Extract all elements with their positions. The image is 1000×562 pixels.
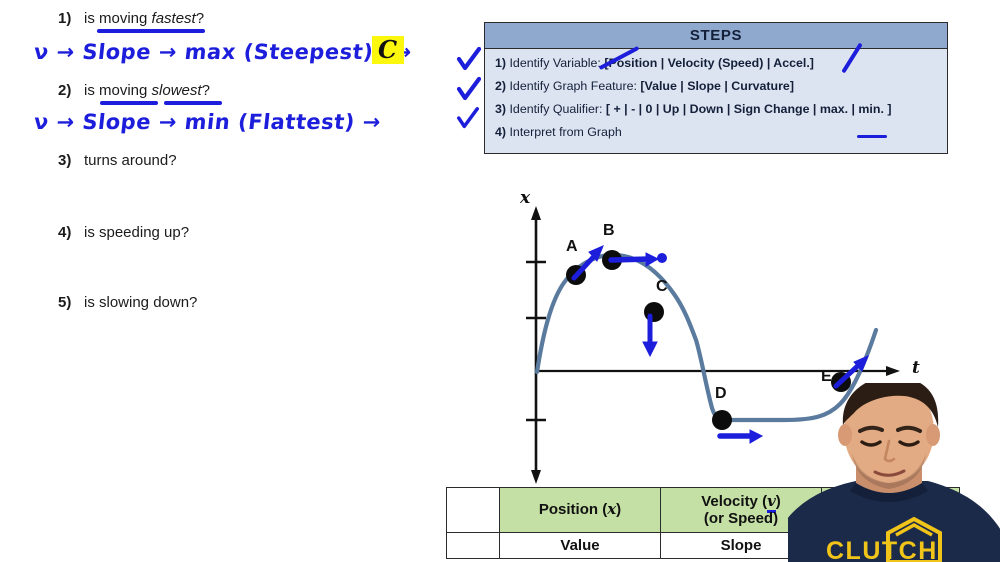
- step-label: Identify Graph Feature:: [509, 79, 636, 93]
- step-item-1: 1) Identify Variable: [Position | Veloci…: [495, 56, 937, 70]
- question-item-2: 2) is moving slowest?: [58, 82, 210, 99]
- question-number: 3): [58, 152, 84, 169]
- point-label-c: C: [656, 278, 668, 296]
- step-number: 1): [495, 56, 506, 70]
- question-text: is speeding up?: [84, 224, 189, 241]
- question-text: is moving fastest?: [84, 10, 204, 27]
- step-label: Identify Variable:: [509, 56, 600, 70]
- step-number: 3): [495, 102, 506, 116]
- slope-arrow-d: [720, 430, 762, 443]
- step-options: [Value | Slope | Curvature]: [640, 79, 794, 93]
- presenter-video: CLUTCH: [788, 383, 1000, 562]
- slope-arrow-c: [643, 316, 657, 356]
- table-cell-blank: [447, 488, 500, 533]
- point-label-b: B: [603, 222, 615, 240]
- question-number: 2): [58, 82, 84, 99]
- question-item-3: 3) turns around?: [58, 152, 177, 169]
- y-axis-label: x: [520, 188, 530, 208]
- graph-point-d: [712, 410, 732, 430]
- question-item-1: 1) is moving fastest?: [58, 10, 204, 27]
- underline-q2-moving: [100, 101, 158, 105]
- question-number: 5): [58, 294, 84, 311]
- underline-q1: [97, 29, 205, 33]
- underline-max: [857, 135, 887, 138]
- table-header-position: Position (x): [500, 488, 661, 533]
- checkmark-icon: [456, 106, 482, 134]
- slope-arrow-a: [574, 246, 603, 278]
- point-label-d: D: [715, 385, 727, 403]
- handwritten-note-1: ν → Slope → max (Steepest) ⟶: [33, 40, 413, 64]
- question-text: turns around?: [84, 152, 177, 169]
- step-item-3: 3) Identify Qualifier: [ + | - | 0 | Up …: [495, 102, 937, 116]
- question-item-4: 4) is speeding up?: [58, 224, 189, 241]
- step-options: [ + | - | 0 | Up | Down | Sign Change | …: [606, 102, 892, 116]
- step-label: Identify Qualifier:: [509, 102, 602, 116]
- question-text: is slowing down?: [84, 294, 197, 311]
- checkmark-icon: [456, 76, 482, 104]
- graph-point-c: [644, 302, 664, 322]
- step-label: Interpret from Graph: [509, 125, 621, 139]
- step-number: 2): [495, 79, 506, 93]
- question-number: 4): [58, 224, 84, 241]
- table-cell-position-value: Value: [500, 533, 661, 559]
- underline-q2-slowest: [164, 101, 222, 105]
- checkmark-icon: [456, 46, 482, 74]
- point-label-a: A: [566, 238, 578, 256]
- presenter-figure: CLUTCH: [788, 383, 1000, 562]
- question-list: 1) is moving fastest? 2) is moving slowe…: [0, 0, 470, 330]
- highlighted-answer-c: C: [372, 36, 404, 64]
- question-text: is moving slowest?: [84, 82, 210, 99]
- step-number: 4): [495, 125, 506, 139]
- x-axis-label: t: [912, 358, 920, 378]
- lesson-slide: 1) is moving fastest? 2) is moving slowe…: [0, 0, 1000, 562]
- steps-title: STEPS: [485, 23, 947, 49]
- handwritten-note-2: ν → Slope → min (Flattest) →: [33, 110, 382, 134]
- shirt-text: CLUTCH: [826, 537, 938, 562]
- step-item-2: 2) Identify Graph Feature: [Value | Slop…: [495, 79, 937, 93]
- question-number: 1): [58, 10, 84, 27]
- step-options: [Position | Velocity (Speed) | Accel.]: [604, 56, 814, 70]
- question-item-5: 5) is slowing down?: [58, 294, 197, 311]
- table-cell-blank: [447, 533, 500, 559]
